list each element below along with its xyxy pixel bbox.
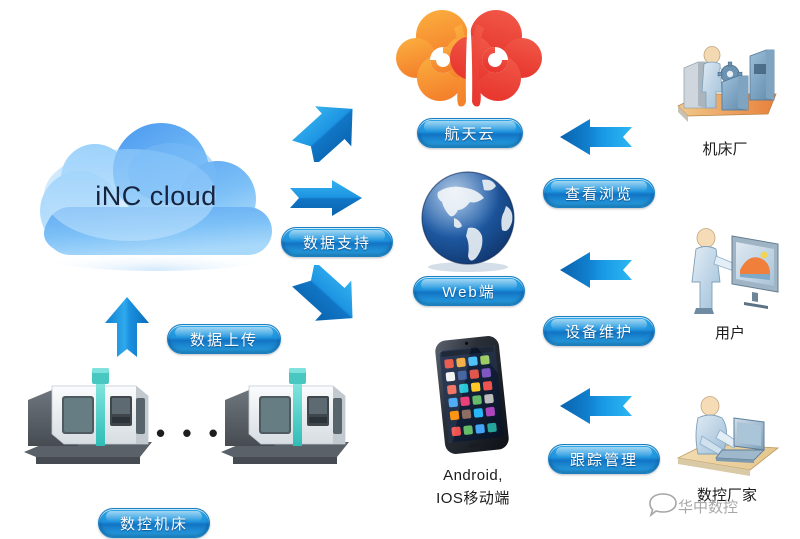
arrow-up-data-upload	[102, 295, 152, 359]
inc-cloud-node: iNC cloud	[22, 123, 290, 273]
arrow-left-from-user	[558, 250, 634, 290]
smartphone-icon	[424, 336, 520, 454]
inc-cloud-label: iNC cloud	[22, 181, 290, 212]
label-data-upload[interactable]: 数据上传	[167, 324, 281, 354]
arrow-left-from-factory	[558, 117, 634, 157]
label-mobile-client-line2: IOS移动端	[398, 489, 548, 509]
factory-worker-icon	[672, 38, 780, 130]
cnc-machine-icon	[18, 360, 158, 470]
watermark-text: 华中数控	[678, 496, 738, 517]
globe-icon	[414, 166, 522, 274]
arrow-right-to-web	[288, 178, 364, 218]
person-at-laptop-icon	[672, 392, 784, 484]
label-actor-user: 用户	[665, 324, 795, 344]
label-web-client[interactable]: Web端	[413, 276, 525, 306]
arrow-down-right-to-mobile	[291, 265, 365, 327]
user-at-screen-icon	[674, 222, 784, 318]
label-tracking-management[interactable]: 跟踪管理	[548, 444, 660, 474]
label-view-browse[interactable]: 查看浏览	[543, 178, 655, 208]
orange-cloud-spiral-logo	[396, 6, 542, 110]
label-data-support[interactable]: 数据支持	[281, 227, 393, 257]
cnc-machine-icon-2	[215, 360, 355, 470]
arrow-left-from-cnc-vendor	[558, 386, 634, 426]
label-mobile-client-line1: Android,	[398, 466, 548, 486]
arrow-up-right-to-aerospace-cloud	[291, 100, 365, 162]
diagram-canvas: iNC cloud 数据上传	[0, 0, 800, 539]
label-cnc-machines[interactable]: 数控机床	[98, 508, 210, 538]
machines-ellipsis: • • •	[156, 418, 223, 449]
label-equipment-maintenance[interactable]: 设备维护	[543, 316, 655, 346]
label-actor-factory: 机床厂	[660, 140, 790, 160]
label-aerospace-cloud[interactable]: 航天云	[417, 118, 523, 148]
speech-bubble-icon	[648, 492, 678, 518]
